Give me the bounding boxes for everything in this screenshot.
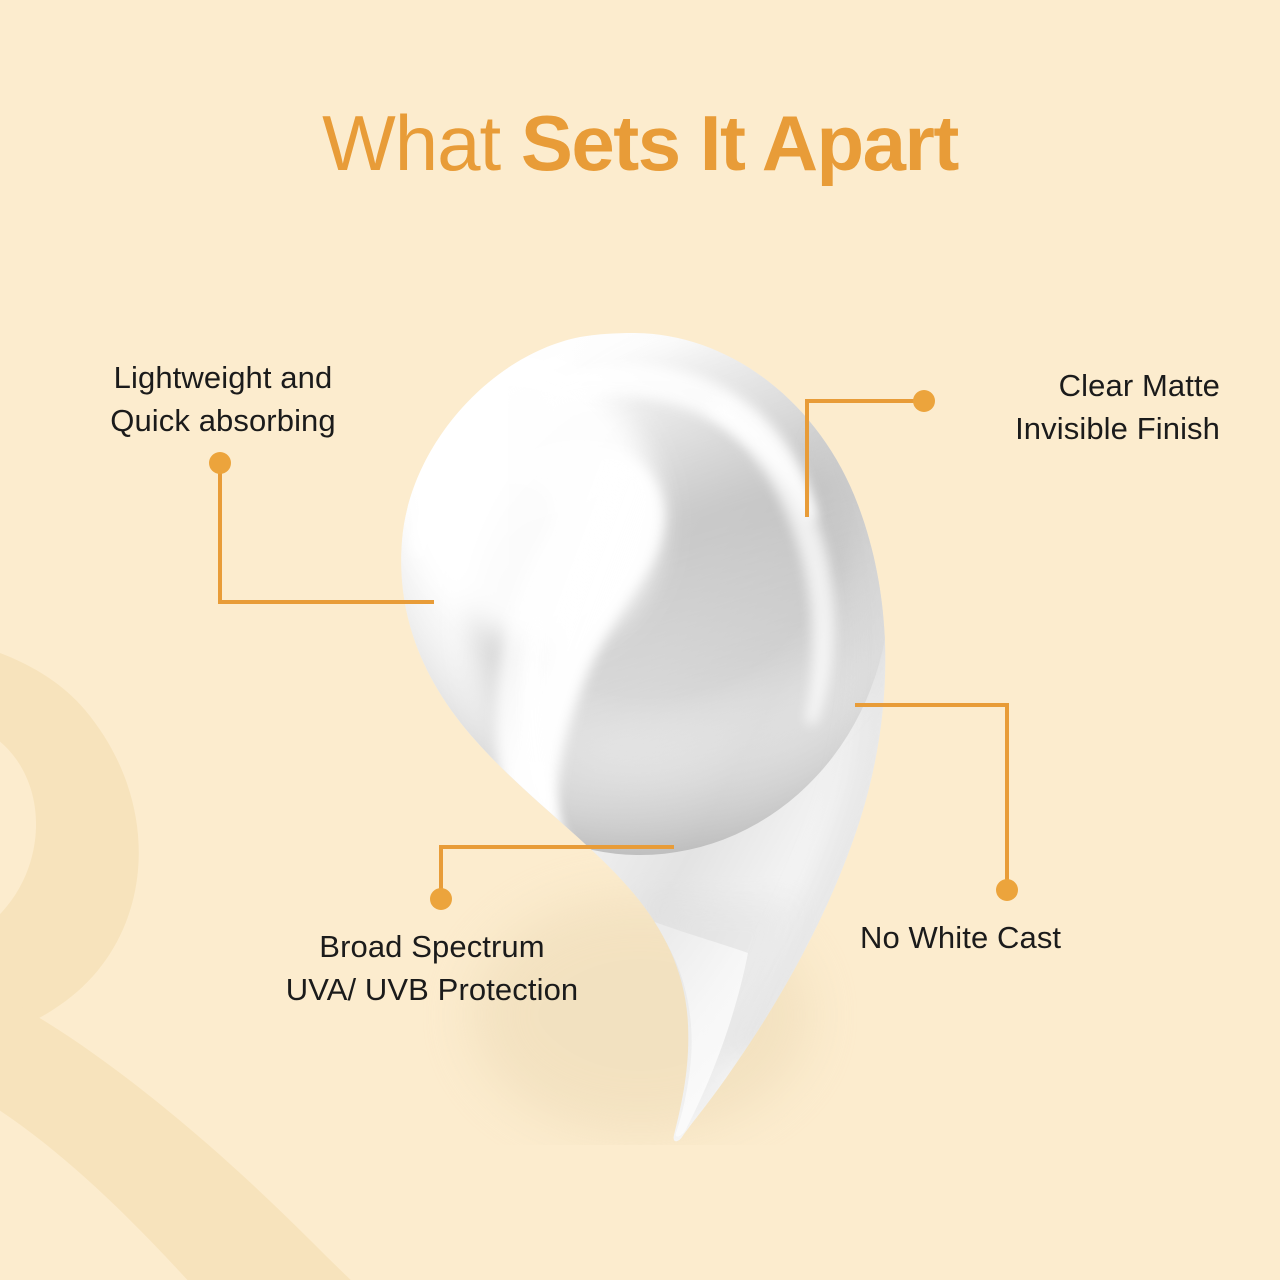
- connector-dot-lightweight: [209, 452, 231, 474]
- feature-label-clear-matte: Clear Matte Invisible Finish: [880, 364, 1220, 450]
- title-bold-part: Sets It Apart: [521, 99, 958, 187]
- title-light-part: What: [322, 99, 521, 187]
- cream-swatch-image: [390, 325, 910, 1145]
- connector-line-no-white-cast: [857, 705, 1007, 890]
- infographic-poster: What Sets It Apart: [0, 0, 1280, 1280]
- connector-line-lightweight: [220, 463, 432, 602]
- feature-label-no-white-cast: No White Cast: [860, 916, 1160, 959]
- connector-line-broad-spectrum: [441, 847, 672, 899]
- connector-dot-no-white-cast: [996, 879, 1018, 901]
- connector-dot-broad-spectrum: [430, 888, 452, 910]
- connector-lines-layer: [0, 0, 1280, 1280]
- page-title: What Sets It Apart: [0, 104, 1280, 182]
- feature-label-lightweight: Lightweight and Quick absorbing: [58, 356, 388, 442]
- feature-label-broad-spectrum: Broad Spectrum UVA/ UVB Protection: [222, 925, 642, 1011]
